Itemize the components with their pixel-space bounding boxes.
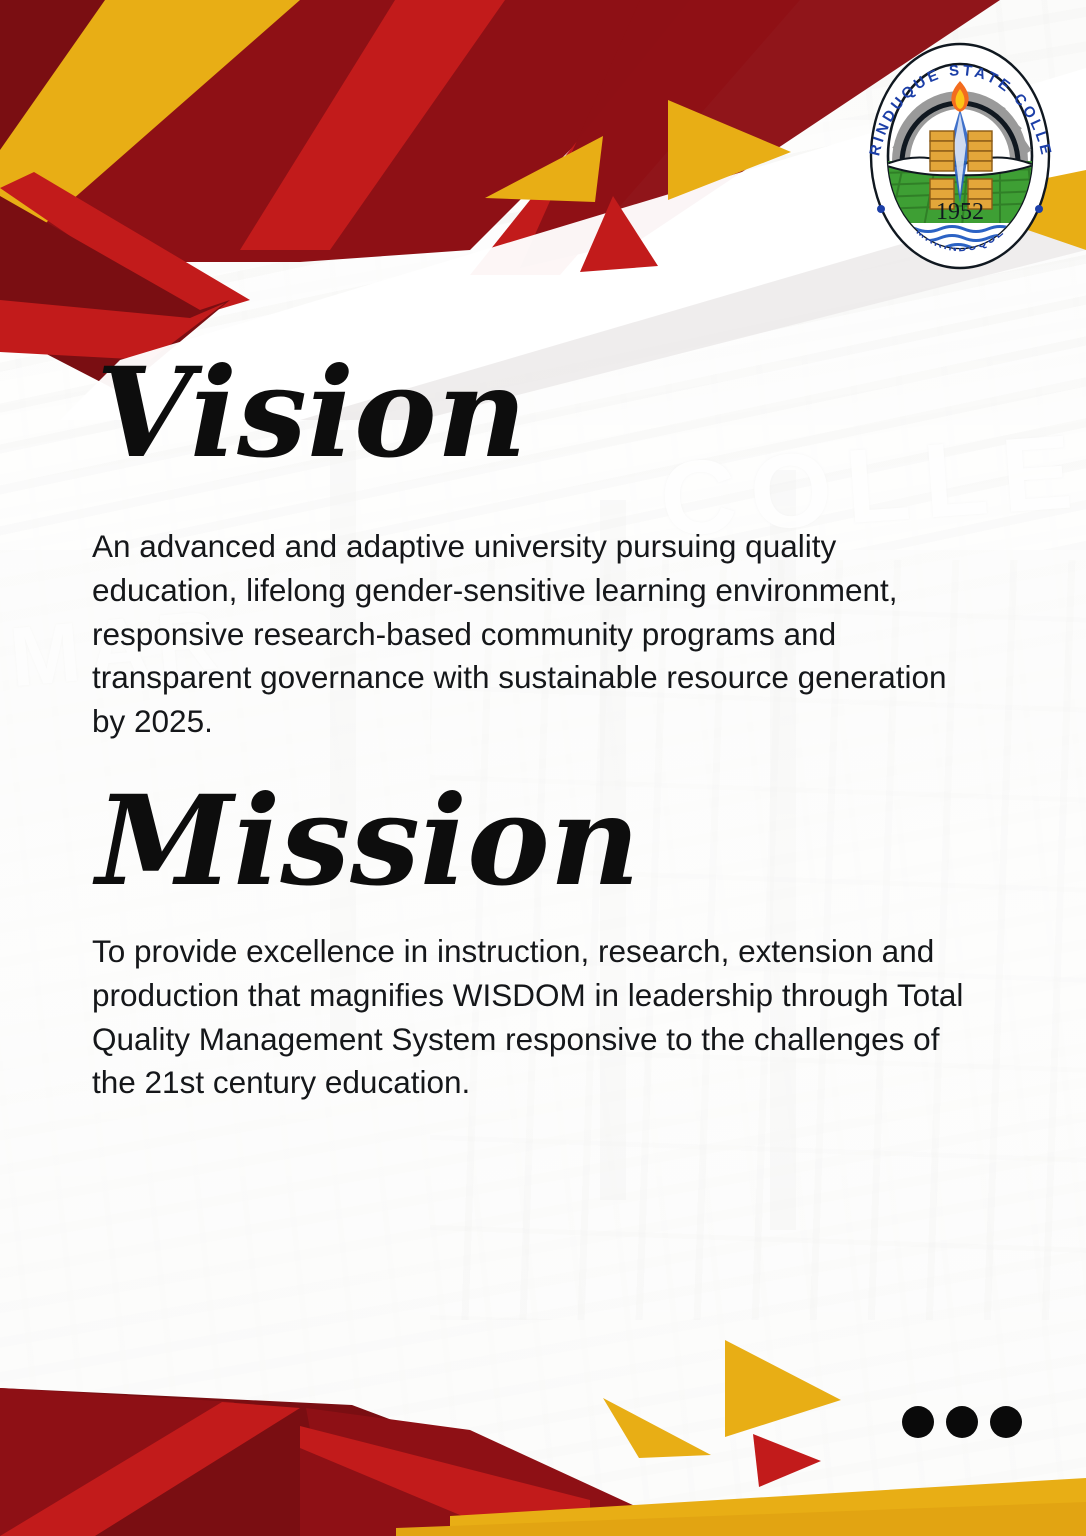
mission-line: the 21st century education. xyxy=(92,1061,995,1105)
vision-line: An advanced and adaptive university purs… xyxy=(92,525,995,569)
mission-line: production that magnifies WISDOM in lead… xyxy=(92,974,995,1018)
mission-line: To provide excellence in instruction, re… xyxy=(92,930,995,974)
dot-1 xyxy=(902,1406,934,1438)
gold-triangle-bottom-small xyxy=(603,1398,713,1460)
vision-body: An advanced and adaptive university purs… xyxy=(92,525,995,744)
vision-line: responsive research-based community prog… xyxy=(92,613,995,657)
vision-heading: Vision xyxy=(96,352,527,476)
gold-triangle-bottom-large xyxy=(725,1340,843,1440)
decorative-dots-group xyxy=(902,1406,1022,1438)
red-triangle-bottom xyxy=(753,1434,823,1489)
vision-line: transparent governance with sustainable … xyxy=(92,656,995,700)
vision-line: education, lifelong gender-sensitive lea… xyxy=(92,569,995,613)
vision-line: by 2025. xyxy=(92,700,995,744)
poster-canvas: COLLEGE MAR xyxy=(0,0,1086,1536)
mission-body: To provide excellence in instruction, re… xyxy=(92,930,995,1105)
dot-3 xyxy=(990,1406,1022,1438)
dot-2 xyxy=(946,1406,978,1438)
mission-heading: Mission xyxy=(96,780,640,904)
mission-line: Quality Management System responsive to … xyxy=(92,1018,995,1062)
